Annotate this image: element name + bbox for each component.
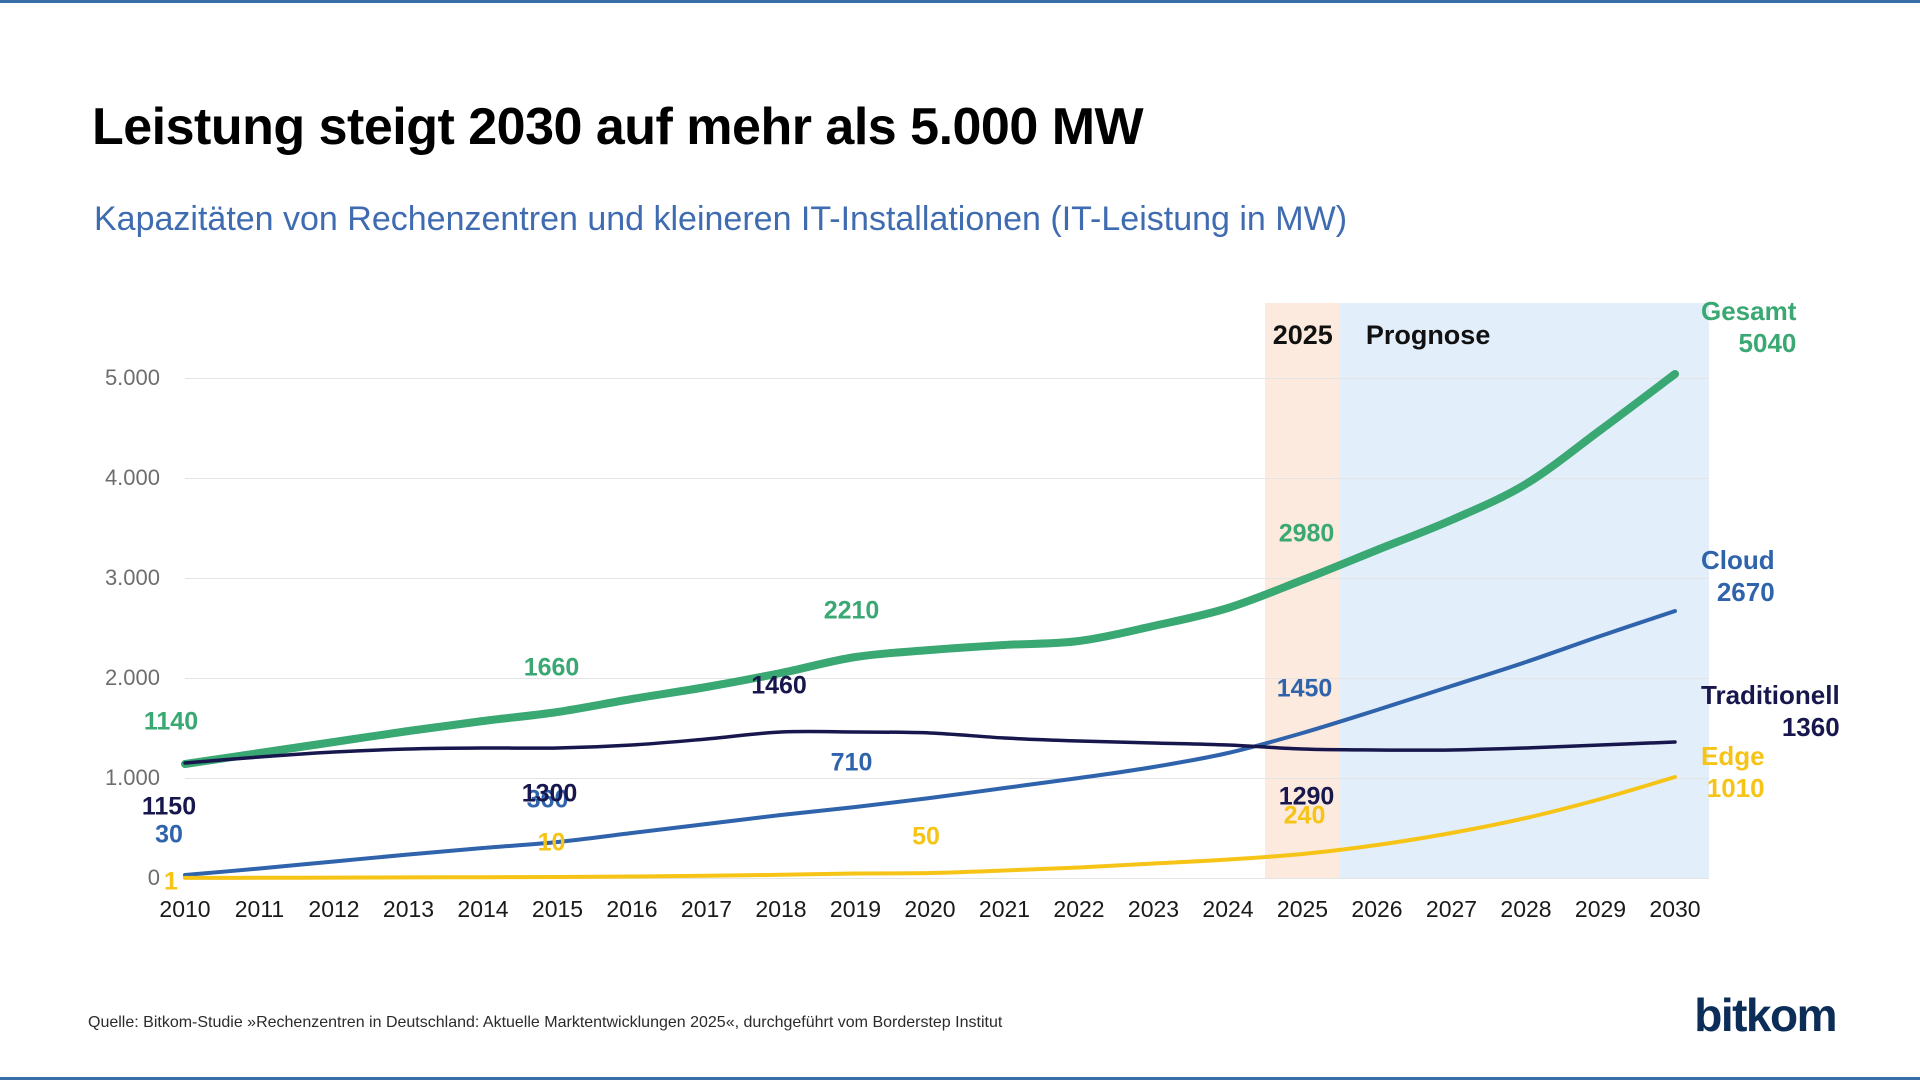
data-point-label: 1150 bbox=[142, 793, 196, 822]
data-point-label: 50 bbox=[912, 823, 940, 852]
series-legend-value: 1360 bbox=[1701, 712, 1840, 744]
data-point-label: 30 bbox=[155, 821, 183, 850]
y-axis-tick-label: 3.000 bbox=[50, 565, 160, 591]
x-axis-tick-label: 2012 bbox=[308, 896, 359, 923]
page-title: Leistung steigt 2030 auf mehr als 5.000 … bbox=[92, 97, 1143, 157]
x-axis-tick-label: 2022 bbox=[1053, 896, 1104, 923]
series-legend-name: Cloud bbox=[1701, 545, 1775, 577]
x-axis-tick-label: 2021 bbox=[979, 896, 1030, 923]
data-point-label: 10 bbox=[538, 829, 566, 858]
series-legend-name: Traditionell bbox=[1701, 680, 1840, 712]
series-legend-edge: Edge1010 bbox=[1701, 741, 1765, 804]
x-axis-tick-label: 2016 bbox=[606, 896, 657, 923]
x-axis-tick-label: 2015 bbox=[532, 896, 583, 923]
x-axis-tick-label: 2020 bbox=[904, 896, 955, 923]
data-point-label: 1 bbox=[164, 867, 178, 896]
x-axis-tick-label: 2019 bbox=[830, 896, 881, 923]
data-point-label: 1660 bbox=[524, 654, 580, 683]
series-line-traditionell bbox=[185, 731, 1675, 763]
y-axis-tick-label: 1.000 bbox=[50, 765, 160, 791]
x-axis-tick-label: 2024 bbox=[1202, 896, 1253, 923]
series-legend-name: Edge bbox=[1701, 741, 1765, 773]
chart-plot-area: 01.0002.0003.0004.0005.00011401660221029… bbox=[185, 358, 1675, 878]
annotation-year-2025: 2025 bbox=[1273, 320, 1333, 351]
data-point-label: 1450 bbox=[1277, 675, 1333, 704]
x-axis-tick-label: 2018 bbox=[755, 896, 806, 923]
bitkom-logo: bitkom bbox=[1694, 988, 1836, 1042]
y-axis-tick-label: 2.000 bbox=[50, 665, 160, 691]
series-legend-value: 5040 bbox=[1701, 328, 1796, 360]
x-axis-tick-label: 2026 bbox=[1351, 896, 1402, 923]
data-point-label: 2980 bbox=[1279, 520, 1335, 549]
series-legend-traditionell: Traditionell1360 bbox=[1701, 680, 1840, 743]
y-axis-tick-label: 4.000 bbox=[50, 465, 160, 491]
x-axis-tick-label: 2013 bbox=[383, 896, 434, 923]
x-axis-tick-label: 2017 bbox=[681, 896, 732, 923]
y-axis-tick-label: 0 bbox=[50, 865, 160, 891]
series-legend-name: Gesamt bbox=[1701, 296, 1796, 328]
chart-lines bbox=[185, 358, 1750, 888]
series-legend-value: 2670 bbox=[1701, 577, 1775, 609]
x-axis-tick-label: 2027 bbox=[1426, 896, 1477, 923]
series-legend-gesamt: Gesamt5040 bbox=[1701, 296, 1796, 359]
x-axis-tick-label: 2023 bbox=[1128, 896, 1179, 923]
data-point-label: 1140 bbox=[144, 708, 198, 737]
x-axis-tick-label: 2014 bbox=[457, 896, 508, 923]
x-axis-tick-label: 2025 bbox=[1277, 896, 1328, 923]
series-legend-value: 1010 bbox=[1701, 773, 1765, 805]
source-note: Quelle: Bitkom-Studie »Rechenzentren in … bbox=[88, 1014, 1002, 1032]
data-point-label: 710 bbox=[831, 749, 873, 778]
x-axis-tick-label: 2011 bbox=[235, 896, 284, 923]
x-axis-tick-label: 2010 bbox=[159, 896, 210, 923]
x-axis-tick-label: 2029 bbox=[1575, 896, 1626, 923]
data-point-label: 1460 bbox=[751, 672, 807, 701]
y-axis-tick-label: 5.000 bbox=[50, 365, 160, 391]
infographic-page: Leistung steigt 2030 auf mehr als 5.000 … bbox=[0, 0, 1920, 1080]
data-point-label: 2210 bbox=[824, 597, 880, 626]
annotation-prognose: Prognose bbox=[1366, 320, 1491, 351]
page-subtitle: Kapazitäten von Rechenzentren und kleine… bbox=[94, 200, 1347, 239]
data-point-label: 240 bbox=[1284, 802, 1326, 831]
series-legend-cloud: Cloud2670 bbox=[1701, 545, 1775, 608]
x-axis-tick-label: 2030 bbox=[1649, 896, 1700, 923]
series-line-gesamt bbox=[185, 374, 1675, 764]
x-axis-tick-label: 2028 bbox=[1500, 896, 1551, 923]
data-point-label: 1300 bbox=[522, 780, 578, 809]
